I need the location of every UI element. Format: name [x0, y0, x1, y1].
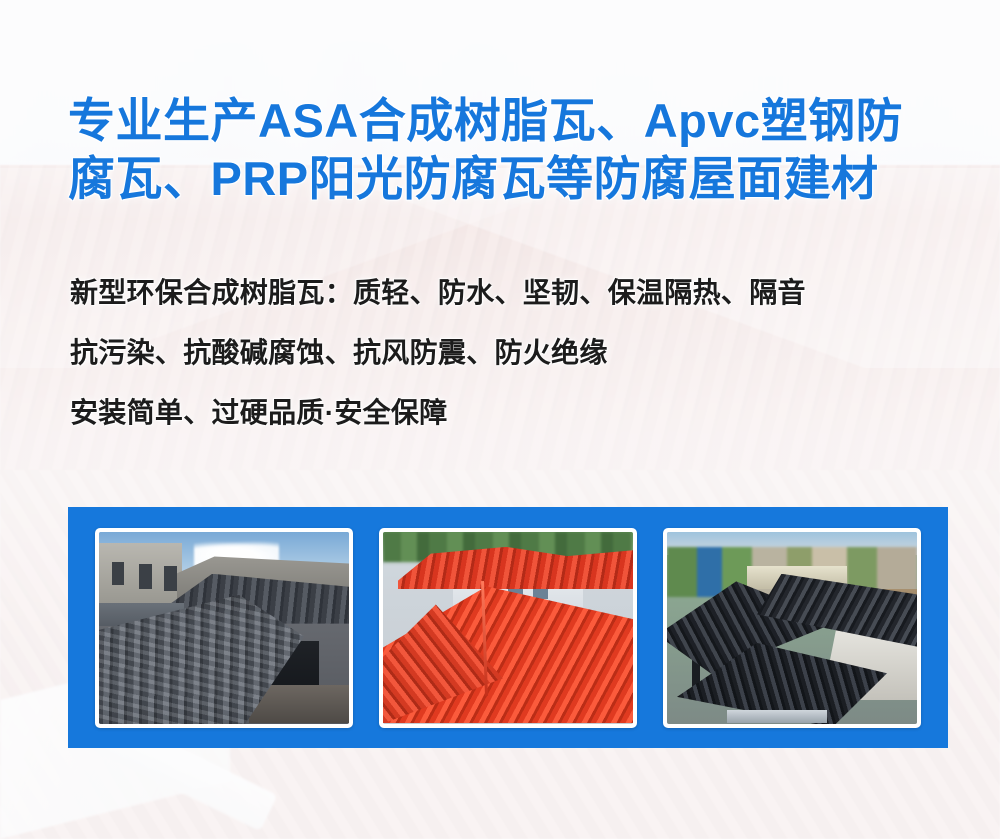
- subhead-line-3: 安装简单、过硬品质·安全保障: [70, 392, 970, 434]
- product-banner: 专业生产ASA合成树脂瓦、Apvc塑钢防 腐瓦、PRP阳光防腐瓦等防腐屋面建材 …: [0, 0, 1000, 839]
- gallery-photo-2[interactable]: [379, 528, 637, 728]
- red-resin-tile-roof-photo: [383, 532, 633, 724]
- grey-resin-tile-roof-photo: [99, 532, 349, 724]
- photo-gallery-panel: [68, 507, 948, 748]
- gallery-photo-1[interactable]: [95, 528, 353, 728]
- photo3-bottom-strip: [727, 710, 827, 723]
- photo1-window: [139, 564, 152, 589]
- headline: 专业生产ASA合成树脂瓦、Apvc塑钢防 腐瓦、PRP阳光防腐瓦等防腐屋面建材: [68, 92, 948, 208]
- subhead-line-1: 新型环保合成树脂瓦：质轻、防水、坚韧、保温隔热、隔音: [70, 272, 970, 314]
- subhead-line-2: 抗污染、抗酸碱腐蚀、抗风防震、防火绝缘: [70, 332, 970, 374]
- headline-line-1: 专业生产ASA合成树脂瓦、Apvc塑钢防: [68, 92, 948, 150]
- gallery-photo-3[interactable]: [663, 528, 921, 728]
- headline-line-2: 腐瓦、PRP阳光防腐瓦等防腐屋面建材: [68, 150, 948, 208]
- black-resin-tile-roof-photo: [667, 532, 917, 724]
- photo1-window: [112, 562, 125, 585]
- photo1-window: [164, 566, 177, 591]
- subhead: 新型环保合成树脂瓦：质轻、防水、坚韧、保温隔热、隔音 抗污染、抗酸碱腐蚀、抗风防…: [70, 272, 970, 434]
